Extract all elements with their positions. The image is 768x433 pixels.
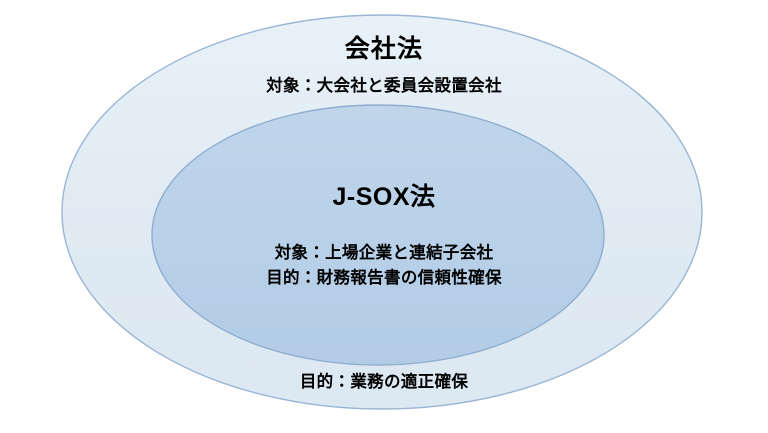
inner-ellipse-title: J-SOX法: [0, 181, 768, 213]
inner-ellipse-details: 対象：上場企業と連結子会社 目的：財務報告書の信頼性確保: [0, 243, 768, 289]
outer-ellipse-title: 会社法: [0, 33, 768, 65]
inner-detail-line-purpose: 目的：財務報告書の信頼性確保: [0, 268, 768, 289]
outer-ellipse-footer: 目的：業務の適正確保: [0, 372, 768, 393]
inner-detail-line-target: 対象：上場企業と連結子会社: [0, 243, 768, 264]
outer-ellipse-subtitle: 対象：大会社と委員会設置会社: [0, 76, 768, 97]
inner-ellipse-jsox: [152, 105, 604, 365]
diagram-canvas: 会社法 対象：大会社と委員会設置会社 J-SOX法 対象：上場企業と連結子会社 …: [0, 0, 768, 433]
